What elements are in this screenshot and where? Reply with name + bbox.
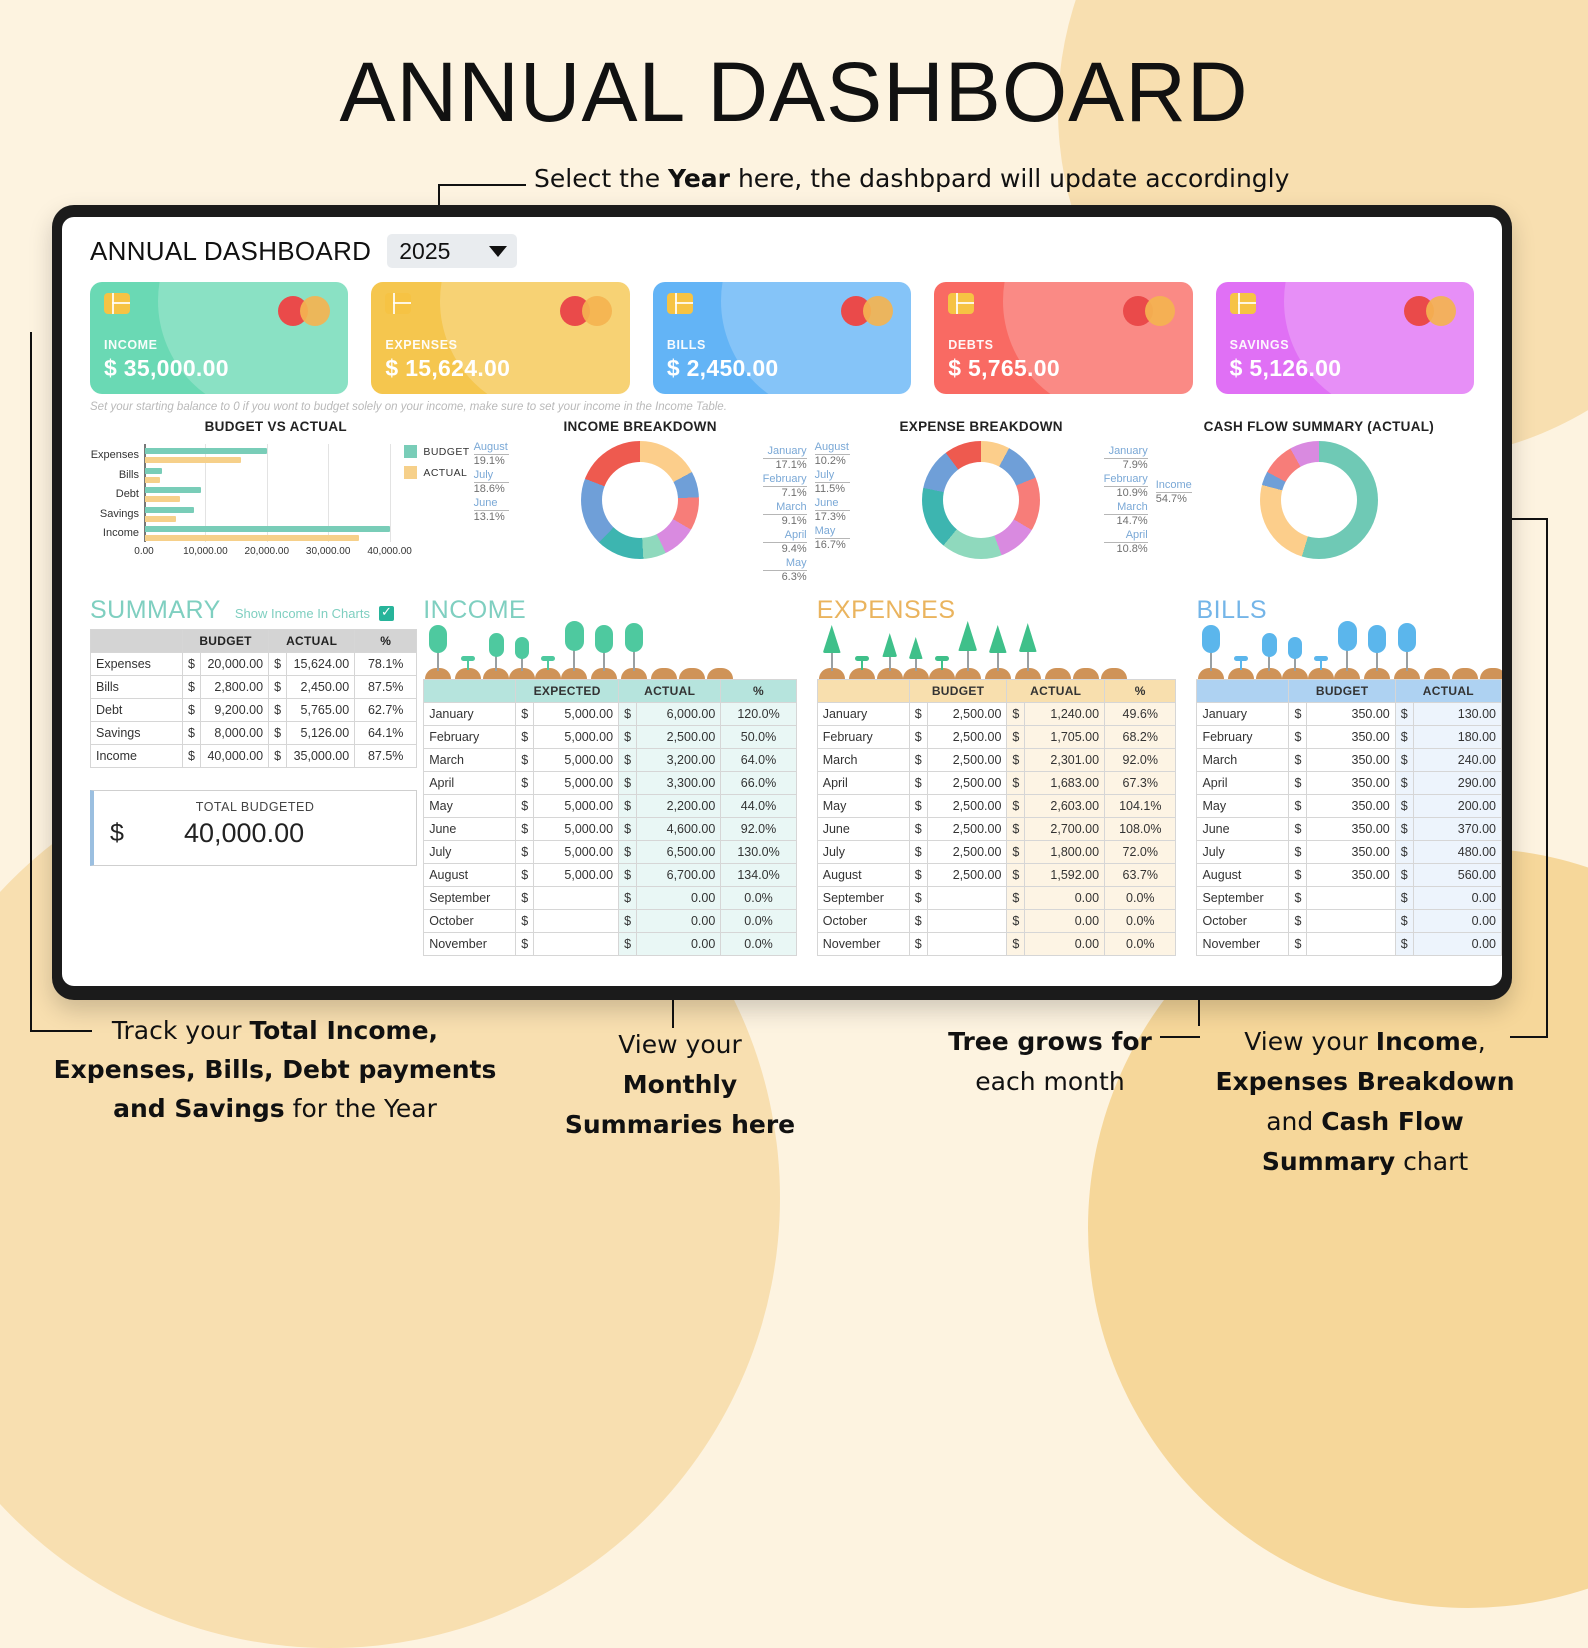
table-cell: 49.6% — [1105, 703, 1176, 726]
table-cell: $ — [619, 841, 637, 864]
table-cell: 120.0% — [721, 703, 796, 726]
bar-group: Debt — [145, 487, 390, 502]
table-cell: Savings — [91, 722, 183, 745]
summary-table-head: BUDGETACTUAL% — [91, 630, 417, 653]
table-cell: $ — [909, 726, 927, 749]
table-cell: $ — [516, 795, 534, 818]
tree-trunk-icon — [573, 649, 575, 671]
donut-label-name: April — [1104, 529, 1148, 542]
tree-crown-icon — [565, 621, 584, 651]
callout-charts-leader-h2 — [1510, 1036, 1548, 1038]
table-cell: 104.1% — [1105, 795, 1176, 818]
chip-icon — [1230, 293, 1256, 314]
table-cell: 350.00 — [1307, 749, 1395, 772]
column-header: % — [1105, 680, 1176, 703]
show-income-in-charts-toggle[interactable]: Show Income In Charts — [235, 606, 394, 625]
soil-mound-icon — [1424, 668, 1450, 679]
donut-label-value: 17.1% — [763, 458, 807, 472]
tree-crown-icon — [909, 637, 923, 659]
table-cell: 350.00 — [1307, 841, 1395, 864]
table-cell: July — [817, 841, 909, 864]
table-cell: $ — [1289, 841, 1307, 864]
table-cell: $ — [619, 703, 637, 726]
bar-actual — [145, 516, 176, 522]
income-table-body: January$5,000.00$6,000.00120.0%February$… — [424, 703, 797, 956]
donut-label-name: March — [1104, 501, 1148, 514]
callout-monthly-line3: Summaries here — [545, 1105, 815, 1145]
year-value: 2025 — [399, 238, 450, 265]
expenses-panel: EXPENSES BUDGETACTUAL% January$2,500.00$… — [797, 596, 1177, 956]
table-cell: $ — [1395, 703, 1413, 726]
expenses-table: BUDGETACTUAL% January$2,500.00$1,240.004… — [817, 679, 1177, 956]
donut-label-value: 6.3% — [763, 570, 807, 584]
year-dropdown[interactable]: 2025 — [387, 234, 517, 268]
donut-label: March14.7% — [1104, 501, 1148, 528]
table-cell: 3,200.00 — [637, 749, 721, 772]
table-cell: 40,000.00 — [200, 745, 268, 768]
callout-year-text: Select the Year here, the dashbpard will… — [534, 164, 1289, 193]
cash-flow-left-labels: Income54.7% — [1156, 479, 1192, 507]
tree-trunk-icon — [889, 655, 891, 671]
card-savings: SAVINGS$ 5,126.00 — [1216, 282, 1474, 394]
bar-budget — [145, 468, 162, 474]
card-label: DEBTS — [948, 338, 993, 352]
column-header: % — [355, 630, 417, 653]
table-cell: 64.0% — [721, 749, 796, 772]
card-income: INCOME$ 35,000.00 — [90, 282, 348, 394]
card-network-icon — [560, 296, 612, 326]
bills-panel: BILLS BUDGETACTUAL January$350.00$130.00… — [1176, 596, 1502, 956]
table-cell: $ — [909, 703, 927, 726]
show-income-label: Show Income In Charts — [235, 606, 370, 621]
card-network-icon — [1404, 296, 1456, 326]
table-cell: September — [424, 887, 516, 910]
table-cell: $ — [1007, 749, 1025, 772]
donut-label: July18.6% — [474, 469, 509, 496]
table-cell: $ — [909, 887, 927, 910]
table-row: February$350.00$180.00 — [1197, 726, 1502, 749]
table-cell: 0.00 — [1025, 910, 1105, 933]
table-cell: $ — [1007, 864, 1025, 887]
donut-label: January17.1% — [763, 445, 807, 472]
table-row: March$2,500.00$2,301.0092.0% — [817, 749, 1176, 772]
bar-group: Income — [145, 526, 390, 541]
table-row: June$2,500.00$2,700.00108.0% — [817, 818, 1176, 841]
table-cell: $ — [1007, 703, 1025, 726]
table-cell: 92.0% — [1105, 749, 1176, 772]
table-cell: 290.00 — [1413, 772, 1501, 795]
donut-label: August10.2% — [815, 441, 850, 468]
table-cell: 2,500.00 — [637, 726, 721, 749]
bar-budget — [145, 487, 201, 493]
table-cell: August — [817, 864, 909, 887]
table-cell: 2,301.00 — [1025, 749, 1105, 772]
column-header: BUDGET — [183, 630, 269, 653]
bar-group: Expenses — [145, 448, 390, 463]
soil-mound-icon — [651, 668, 677, 679]
donut-label-value: 14.7% — [1104, 514, 1148, 528]
column-header — [91, 630, 183, 653]
table-row: Income$40,000.00$35,000.0087.5% — [91, 745, 417, 768]
table-cell: 350.00 — [1307, 864, 1395, 887]
sprout-leaf-icon — [935, 656, 949, 661]
soil-mound-icon — [679, 668, 705, 679]
table-cell: May — [1197, 795, 1289, 818]
tree-trunk-icon — [1294, 657, 1296, 671]
table-cell: $ — [619, 864, 637, 887]
table-cell: 5,000.00 — [534, 864, 619, 887]
tree-crown-icon — [489, 633, 504, 657]
table-cell: 50.0% — [721, 726, 796, 749]
table-cell: 5,000.00 — [534, 749, 619, 772]
table-row: July$350.00$480.00 — [1197, 841, 1502, 864]
table-row: April$350.00$290.00 — [1197, 772, 1502, 795]
card-label: BILLS — [667, 338, 706, 352]
tree-crown-icon — [1338, 621, 1357, 651]
table-cell — [1307, 887, 1395, 910]
donut-label-name: June — [815, 497, 850, 510]
table-cell: 5,000.00 — [534, 703, 619, 726]
income-table-head: EXPECTEDACTUAL% — [424, 680, 797, 703]
table-cell: $ — [183, 653, 201, 676]
table-cell: $ — [269, 699, 287, 722]
legend-item-budget: BUDGET — [404, 445, 469, 458]
table-cell: 2,500.00 — [927, 772, 1007, 795]
table-row: November$$0.000.0% — [817, 933, 1176, 956]
card-network-icon — [278, 296, 330, 326]
table-cell: $ — [1395, 726, 1413, 749]
tree-trunk-icon — [1027, 650, 1029, 671]
starting-balance-note: Set your starting balance to 0 if you wo… — [62, 394, 1502, 413]
table-cell: February — [424, 726, 516, 749]
tree-crown-icon — [989, 625, 1007, 653]
card-debts: DEBTS$ 5,765.00 — [934, 282, 1192, 394]
table-row: May$5,000.00$2,200.0044.0% — [424, 795, 797, 818]
table-cell: 6,700.00 — [637, 864, 721, 887]
table-cell: $ — [269, 653, 287, 676]
bar-actual — [145, 477, 160, 483]
table-cell: 350.00 — [1307, 772, 1395, 795]
table-cell: $ — [1007, 910, 1025, 933]
callout-charts-line3: and Cash Flow — [1215, 1102, 1515, 1142]
table-cell — [534, 933, 619, 956]
sprout-leaf-icon — [541, 656, 555, 661]
card-expenses: EXPENSES$ 15,624.00 — [371, 282, 629, 394]
budget-vs-actual-legend: BUDGETACTUAL — [404, 445, 469, 487]
tree-trunk-icon — [915, 657, 917, 671]
table-cell: 92.0% — [721, 818, 796, 841]
table-cell: $ — [1395, 818, 1413, 841]
table-cell: $ — [516, 703, 534, 726]
column-header: ACTUAL — [269, 630, 355, 653]
bar-actual — [145, 535, 359, 541]
legend-label: BUDGET — [423, 446, 469, 458]
table-cell: $ — [1395, 841, 1413, 864]
table-row: March$350.00$240.00 — [1197, 749, 1502, 772]
sprout-leaf-icon — [1314, 656, 1328, 661]
table-cell: March — [1197, 749, 1289, 772]
table-cell: $ — [183, 745, 201, 768]
table-cell: 5,000.00 — [534, 841, 619, 864]
table-cell: 560.00 — [1413, 864, 1501, 887]
tree-crown-icon — [958, 621, 977, 651]
cash-flow-chart: CASH FLOW SUMMARY (ACTUAL) Income54.7% — [1152, 419, 1486, 588]
tree-crown-icon — [1398, 623, 1416, 652]
table-cell: $ — [619, 772, 637, 795]
table-row: October$$0.00 — [1197, 910, 1502, 933]
x-tick-label: 20,000.00 — [245, 546, 290, 557]
table-row: August$5,000.00$6,700.00134.0% — [424, 864, 797, 887]
cash-flow-donut — [1260, 441, 1378, 559]
table-cell: 240.00 — [1413, 749, 1501, 772]
table-cell: $ — [1007, 726, 1025, 749]
x-tick-label: 40,000.00 — [367, 546, 412, 557]
table-cell: $ — [183, 722, 201, 745]
callout-monthly-leader-v — [672, 1000, 674, 1028]
summary-table: BUDGETACTUAL% Expenses$20,000.00$15,624.… — [90, 629, 417, 768]
table-cell: $ — [619, 933, 637, 956]
table-cell: $ — [1289, 772, 1307, 795]
income-donut — [581, 441, 699, 559]
donut-hole — [602, 462, 678, 538]
table-cell: February — [817, 726, 909, 749]
table-cell: 87.5% — [355, 676, 417, 699]
table-cell: $ — [516, 887, 534, 910]
table-cell: 15,624.00 — [287, 653, 355, 676]
chevron-down-icon — [489, 246, 507, 257]
bar-x-axis-labels: 0.0010,000.0020,000.0030,000.0040,000.00 — [144, 546, 390, 560]
table-cell: $ — [1289, 933, 1307, 956]
table-row: January$5,000.00$6,000.00120.0% — [424, 703, 797, 726]
table-cell: $ — [1289, 795, 1307, 818]
table-cell: 0.00 — [637, 910, 721, 933]
callout-track-line2: Expenses, Bills, Debt payments — [40, 1051, 510, 1090]
table-cell: $ — [909, 772, 927, 795]
table-cell: 2,800.00 — [200, 676, 268, 699]
income-donut-right-labels: January17.1%February7.1%March9.1%April9.… — [763, 445, 807, 585]
table-cell: 1,240.00 — [1025, 703, 1105, 726]
table-cell: 0.0% — [1105, 910, 1176, 933]
callout-monthly-line1: View your — [545, 1025, 815, 1065]
donut-label: March9.1% — [763, 501, 807, 528]
donut-label-value: 18.6% — [474, 482, 509, 496]
cash-flow-title: CASH FLOW SUMMARY (ACTUAL) — [1152, 419, 1486, 434]
donut-label: February7.1% — [763, 473, 807, 500]
callout-monthly: View your Monthly Summaries here — [545, 1025, 815, 1145]
table-cell: $ — [1007, 818, 1025, 841]
legend-item-actual: ACTUAL — [404, 466, 469, 479]
donut-hole — [1281, 462, 1357, 538]
bar-category-label: Bills — [119, 469, 139, 481]
table-cell: 5,126.00 — [287, 722, 355, 745]
callout-tree-line1: Tree grows for — [930, 1022, 1170, 1062]
summary-header: SUMMARY Show Income In Charts — [90, 596, 417, 625]
donut-hole — [943, 462, 1019, 538]
table-cell: April — [424, 772, 516, 795]
expense-donut-right-labels: January7.9%February10.9%March14.7%April1… — [1104, 445, 1148, 557]
table-cell: $ — [516, 864, 534, 887]
tree-crown-icon — [429, 625, 447, 653]
column-header: EXPECTED — [516, 680, 619, 703]
card-label: INCOME — [104, 338, 158, 352]
card-network-icon — [841, 296, 893, 326]
spreadsheet-screen: ANNUAL DASHBOARD 2025 INCOME$ 35,000.00E… — [62, 217, 1502, 986]
table-row: March$5,000.00$3,200.0064.0% — [424, 749, 797, 772]
tree-crown-icon — [515, 637, 529, 659]
callout-year-leader-h — [438, 184, 526, 186]
table-cell: $ — [269, 745, 287, 768]
table-cell: $ — [909, 749, 927, 772]
tree-crown-icon — [1019, 623, 1037, 652]
tree-trunk-icon — [1406, 650, 1408, 671]
table-row: May$2,500.00$2,603.00104.1% — [817, 795, 1176, 818]
table-cell: 72.0% — [1105, 841, 1176, 864]
income-breakdown-chart: INCOME BREAKDOWN August19.1%July18.6%Jun… — [470, 419, 811, 588]
table-cell: 5,765.00 — [287, 699, 355, 722]
income-table: EXPECTEDACTUAL% January$5,000.00$6,000.0… — [423, 679, 797, 956]
table-cell: 0.0% — [721, 910, 796, 933]
tree-trunk-icon — [1210, 651, 1212, 671]
table-cell — [927, 887, 1007, 910]
table-cell: June — [817, 818, 909, 841]
table-cell: 2,700.00 — [1025, 818, 1105, 841]
table-cell: November — [1197, 933, 1289, 956]
table-cell: August — [1197, 864, 1289, 887]
table-cell: 2,500.00 — [927, 749, 1007, 772]
bills-table-head: BUDGETACTUAL — [1197, 680, 1502, 703]
donut-label-value: 16.7% — [815, 538, 850, 552]
donut-label: February10.9% — [1104, 473, 1148, 500]
table-cell: $ — [1395, 864, 1413, 887]
soil-mound-icon — [1480, 668, 1502, 679]
chip-icon — [385, 293, 411, 314]
table-cell: April — [1197, 772, 1289, 795]
table-cell: 9,200.00 — [200, 699, 268, 722]
donut-label: April9.4% — [763, 529, 807, 556]
table-cell: $ — [619, 887, 637, 910]
table-cell: $ — [909, 933, 927, 956]
table-cell: Bills — [91, 676, 183, 699]
donut-label-name: February — [1104, 473, 1148, 486]
donut-label-name: July — [474, 469, 509, 482]
total-budgeted-label: TOTAL BUDGETED — [94, 791, 416, 814]
table-cell: 20,000.00 — [200, 653, 268, 676]
table-cell: $ — [1007, 933, 1025, 956]
table-cell: $ — [516, 726, 534, 749]
table-cell: $ — [619, 795, 637, 818]
table-cell: $ — [1395, 933, 1413, 956]
table-row: August$2,500.00$1,592.0063.7% — [817, 864, 1176, 887]
table-row: August$350.00$560.00 — [1197, 864, 1502, 887]
column-header — [424, 680, 516, 703]
donut-label-value: 7.9% — [1104, 458, 1148, 472]
tree-trunk-icon — [1268, 655, 1270, 671]
x-tick-label: 0.00 — [134, 546, 153, 557]
table-cell: $ — [1007, 795, 1025, 818]
table-cell — [927, 910, 1007, 933]
column-header: ACTUAL — [1007, 680, 1105, 703]
table-row: Savings$8,000.00$5,126.0064.1% — [91, 722, 417, 745]
income-breakdown-title: INCOME BREAKDOWN — [470, 419, 811, 434]
table-cell: $ — [1289, 864, 1307, 887]
table-cell: $ — [909, 795, 927, 818]
table-cell: 350.00 — [1307, 726, 1395, 749]
donut-label: April10.8% — [1104, 529, 1148, 556]
donut-label-name: July — [815, 469, 850, 482]
table-cell: $ — [183, 676, 201, 699]
table-cell: $ — [269, 676, 287, 699]
tree-trunk-icon — [967, 649, 969, 671]
table-cell: $ — [1289, 887, 1307, 910]
donut-label-value: 9.1% — [763, 514, 807, 528]
table-cell: 0.00 — [637, 887, 721, 910]
legend-swatch — [404, 445, 417, 458]
table-row: November$$0.000.0% — [424, 933, 797, 956]
table-cell: February — [1197, 726, 1289, 749]
table-cell: 2,500.00 — [927, 818, 1007, 841]
card-value: $ 15,624.00 — [385, 355, 510, 382]
table-row: February$2,500.00$1,705.0068.2% — [817, 726, 1176, 749]
table-cell: 130.00 — [1413, 703, 1501, 726]
callout-charts-line4: Summary chart — [1215, 1142, 1515, 1182]
card-bills: BILLS$ 2,450.00 — [653, 282, 911, 394]
callout-charts-line1: View your Income, — [1215, 1022, 1515, 1062]
table-cell — [1307, 933, 1395, 956]
callout-track-line1: Track your Total Income, — [40, 1012, 510, 1051]
summary-cards: INCOME$ 35,000.00EXPENSES$ 15,624.00BILL… — [62, 276, 1502, 394]
checkbox-checked-icon[interactable] — [379, 606, 394, 621]
column-header: BUDGET — [909, 680, 1007, 703]
table-row: June$5,000.00$4,600.0092.0% — [424, 818, 797, 841]
page-title: ANNUAL DASHBOARD — [0, 44, 1588, 141]
donut-label-value: 11.5% — [815, 482, 850, 496]
table-cell: $ — [619, 726, 637, 749]
donut-label: July11.5% — [815, 469, 850, 496]
table-cell: 67.3% — [1105, 772, 1176, 795]
expense-donut — [922, 441, 1040, 559]
donut-label: January7.9% — [1104, 445, 1148, 472]
table-cell: 6,500.00 — [637, 841, 721, 864]
table-cell: $ — [516, 841, 534, 864]
table-cell: $ — [516, 749, 534, 772]
donut-label: June17.3% — [815, 497, 850, 524]
expenses-table-body: January$2,500.00$1,240.0049.6%February$2… — [817, 703, 1176, 956]
sheet-title: ANNUAL DASHBOARD — [90, 236, 371, 267]
table-cell — [534, 887, 619, 910]
donut-label-name: January — [1104, 445, 1148, 458]
table-cell: $ — [619, 818, 637, 841]
table-row: May$350.00$200.00 — [1197, 795, 1502, 818]
donut-label-name: March — [763, 501, 807, 514]
table-cell: August — [424, 864, 516, 887]
donut-label: May6.3% — [763, 557, 807, 584]
donut-label-name: April — [763, 529, 807, 542]
table-cell: 0.00 — [637, 933, 721, 956]
budget-vs-actual-plot: ExpensesBillsDebtSavingsIncome0.0010,000… — [144, 444, 390, 556]
tree-trunk-icon — [603, 651, 605, 671]
table-cell: 5,000.00 — [534, 818, 619, 841]
donut-label-name: January — [763, 445, 807, 458]
total-budgeted-currency: $ — [110, 819, 124, 848]
table-cell: 2,200.00 — [637, 795, 721, 818]
table-cell: $ — [516, 818, 534, 841]
table-cell: 2,500.00 — [927, 703, 1007, 726]
bills-table-body: January$350.00$130.00February$350.00$180… — [1197, 703, 1502, 956]
card-label: EXPENSES — [385, 338, 457, 352]
card-value: $ 35,000.00 — [104, 355, 229, 382]
table-cell: September — [1197, 887, 1289, 910]
summary-table-body: Expenses$20,000.00$15,624.0078.1%Bills$2… — [91, 653, 417, 768]
